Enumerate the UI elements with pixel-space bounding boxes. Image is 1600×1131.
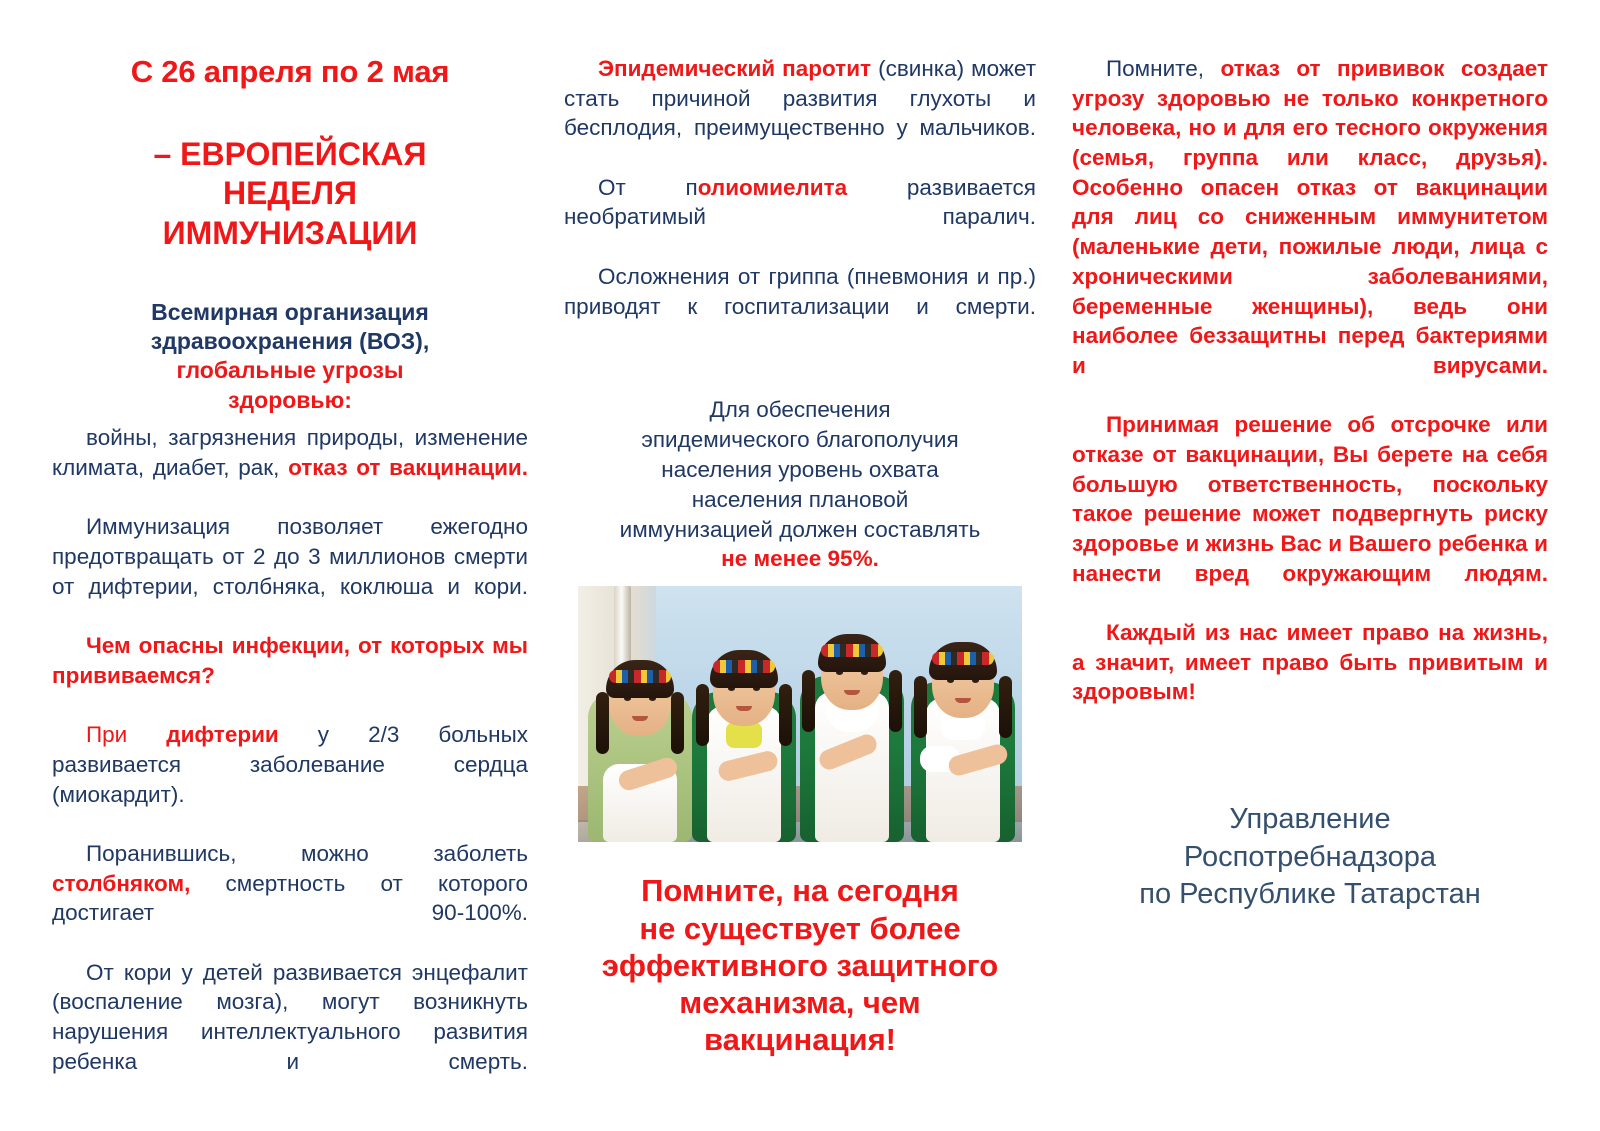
photo-girl-4-headband <box>932 652 994 665</box>
photo-girl-3-braid-right <box>889 670 902 732</box>
refusal-warning-prefix: Помните, <box>1106 56 1220 81</box>
paragraph-polio: От полиомиелита развивается необратимый … <box>564 173 1036 262</box>
photo-girl-2-headband <box>713 660 775 673</box>
campaign-title: – ЕВРОПЕЙСКАЯ НЕДЕЛЯ ИММУНИЗАЦИИ <box>52 135 528 254</box>
tetanus-prefix: Поранившись, можно заболеть <box>86 841 528 866</box>
paragraph-refusal-warning: Помните, отказ от прививок создает угроз… <box>1072 54 1548 410</box>
schoolgirls-vaccination-photo <box>578 586 1022 842</box>
paragraph-diphtheria: При дифтерии у 2/3 больных развивается з… <box>52 720 528 839</box>
paragraph-measles: От кори у детей развивается энцефалит (в… <box>52 958 528 1106</box>
paragraph-influenza: Осложнения от гриппа (пневмония и пр.) п… <box>564 262 1036 351</box>
threats-refusal-text: отказ от вакцинации. <box>288 455 528 480</box>
date-heading: С 26 апреля по 2 мая <box>52 54 528 91</box>
photo-container <box>564 586 1036 842</box>
coverage-note-line-2: эпидемического благополучия <box>564 425 1036 455</box>
who-heading-line-2: здравоохранения (ВОЗ), <box>52 327 528 356</box>
authority-line-1: Управление <box>1072 801 1548 839</box>
photo-girl-4-braid-left <box>914 676 927 738</box>
why-dangerous-text: Чем опасны инфекции, от которых мы приви… <box>52 633 528 688</box>
coverage-note-line-3: населения уровень охвата <box>564 455 1036 485</box>
who-heading-line-3: глобальные угрозы <box>52 356 528 385</box>
diphtheria-keyword: дифтерии <box>166 722 278 747</box>
paragraph-why-dangerous-heading: Чем опасны инфекции, от которых мы приви… <box>52 631 528 720</box>
who-heading: Всемирная организация здравоохранения (В… <box>52 298 528 416</box>
photo-girl-1 <box>584 636 696 842</box>
photo-girl-3-mouth <box>844 690 860 695</box>
paragraph-right-to-life: Каждый из нас имеет право на жизнь, а зн… <box>1072 618 1548 737</box>
photo-girl-1-braid-left <box>596 692 609 754</box>
responsibility-text: Принимая решение об отсрочке или отказе … <box>1072 412 1548 585</box>
photo-girl-2-mouth <box>736 706 752 711</box>
photo-girl-3-braid-left <box>802 670 815 732</box>
measles-text: От кори у детей развивается энцефалит (в… <box>52 960 528 1074</box>
mumps-keyword: Эпидемический паротит <box>598 56 871 81</box>
tetanus-keyword: столбняком, <box>52 871 190 896</box>
photo-girl-3 <box>792 618 912 842</box>
campaign-title-line-3: ИММУНИЗАЦИИ <box>52 214 528 254</box>
slogan-line-5: вакцинация! <box>564 1021 1036 1058</box>
column-right: Помните, отказ от прививок создает угроз… <box>1050 44 1548 1101</box>
slogan-line-3: эффективного защитного <box>564 947 1036 984</box>
campaign-title-line-2: НЕДЕЛЯ <box>52 174 528 214</box>
leaflet-page: С 26 апреля по 2 мая – ЕВРОПЕЙСКАЯ НЕДЕЛ… <box>0 0 1600 1131</box>
coverage-note-line-4: населения плановой <box>564 485 1036 515</box>
photo-girl-2-braid-left <box>696 684 709 746</box>
refusal-warning-text: отказ от прививок создает угрозу здоровь… <box>1072 56 1548 378</box>
diphtheria-prefix: При <box>86 722 166 747</box>
photo-girl-4 <box>904 624 1022 842</box>
slogan-line-1: Помните, на сегодня <box>564 872 1036 909</box>
coverage-note: Для обеспечения эпидемического благополу… <box>564 395 1036 575</box>
paragraph-mumps: Эпидемический паротит (свинка) может ста… <box>564 54 1036 173</box>
paragraph-immunization-prevents: Иммунизация позволяет ежегодно предотвра… <box>52 512 528 631</box>
slogan-line-2: не существует более <box>564 910 1036 947</box>
coverage-note-line-1: Для обеспечения <box>564 395 1036 425</box>
photo-girl-1-mouth <box>632 716 648 721</box>
slogan-line-4: механизма, чем <box>564 984 1036 1021</box>
who-heading-line-4: здоровью: <box>52 386 528 415</box>
right-to-life-text: Каждый из нас имеет право на жизнь, а зн… <box>1072 620 1548 704</box>
authority-line-3: по Республике Татарстан <box>1072 876 1548 914</box>
date-heading-text: С 26 апреля по 2 мая <box>131 54 450 89</box>
photo-girl-2-braid-right <box>779 684 792 746</box>
photo-girl-2 <box>686 630 802 842</box>
immunization-prevents-text: Иммунизация позволяет ежегодно предотвра… <box>52 514 528 598</box>
vaccination-slogan: Помните, на сегодня не существует более … <box>564 872 1036 1058</box>
paragraph-global-threats: войны, загрязнения природы, изменение кл… <box>52 423 528 512</box>
column-left: С 26 апреля по 2 мая – ЕВРОПЕЙСКАЯ НЕДЕЛ… <box>52 44 550 1101</box>
authority-line-2: Роспотребнадзора <box>1072 839 1548 877</box>
photo-girl-4-mouth <box>955 698 971 703</box>
influenza-text: Осложнения от гриппа (пневмония и пр.) п… <box>564 264 1036 319</box>
polio-keyword: олиомиелита <box>698 175 847 200</box>
photo-girl-1-headband <box>609 670 671 683</box>
column-middle: Эпидемический паротит (свинка) может ста… <box>550 44 1050 1101</box>
photo-girl-3-headband <box>821 644 883 657</box>
paragraph-responsibility: Принимая решение об отсрочке или отказе … <box>1072 410 1548 618</box>
issuing-authority: Управление Роспотребнадзора по Республик… <box>1072 801 1548 914</box>
campaign-title-line-1: – ЕВРОПЕЙСКАЯ <box>52 135 528 175</box>
who-heading-line-1: Всемирная организация <box>52 298 528 327</box>
photo-girl-4-braid-right <box>999 676 1012 738</box>
coverage-threshold-value: не менее 95%. <box>564 544 1036 574</box>
coverage-note-line-5: иммунизацией должен составлять <box>564 515 1036 545</box>
photo-girl-1-braid-right <box>671 692 684 754</box>
paragraph-tetanus: Поранившись, можно заболеть столбняком, … <box>52 839 528 958</box>
polio-prefix: От п <box>598 175 698 200</box>
